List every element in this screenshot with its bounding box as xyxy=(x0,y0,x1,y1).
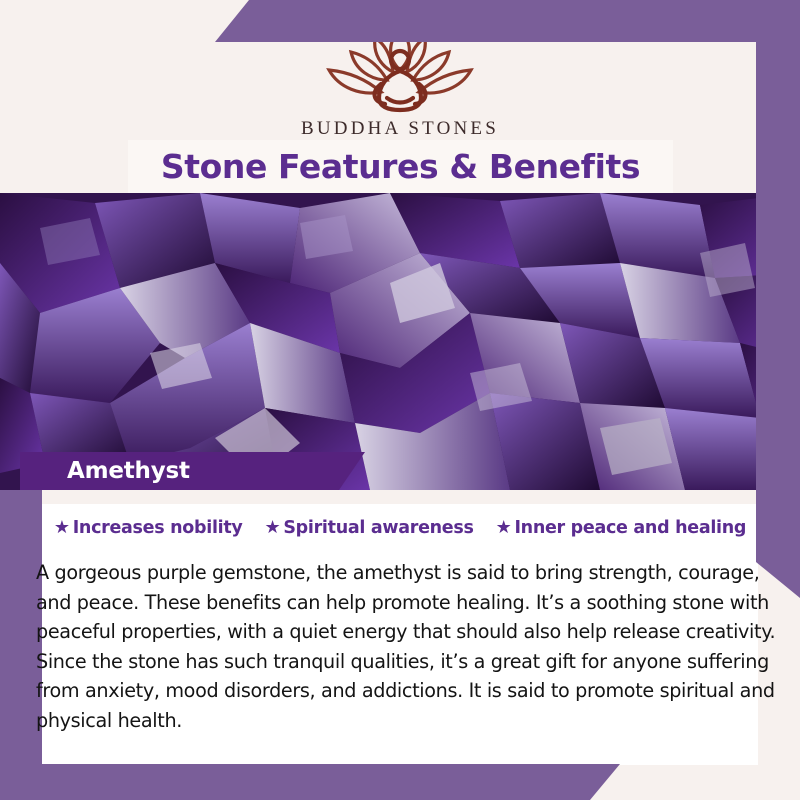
stone-name-banner: Amethyst xyxy=(20,452,365,490)
benefit-label-2: Spiritual awareness xyxy=(283,518,473,538)
brand-name: BUDDHA STONES xyxy=(301,118,499,140)
star-icon: ★ xyxy=(54,519,70,537)
title-strip: Stone Features & Benefits xyxy=(128,140,673,193)
benefit-item-3: ★ Inner peace and healing xyxy=(496,518,747,538)
page-title: Stone Features & Benefits xyxy=(161,147,640,186)
stone-name: Amethyst xyxy=(67,458,190,484)
benefit-item-1: ★ Increases nobility xyxy=(54,518,243,538)
star-icon: ★ xyxy=(496,519,512,537)
frame-band-bottom xyxy=(0,764,620,800)
description-text: A gorgeous purple gemstone, the amethyst… xyxy=(36,558,776,735)
amethyst-photo xyxy=(0,193,800,490)
panel-top-accent xyxy=(42,490,758,504)
star-icon: ★ xyxy=(265,519,281,537)
frame-band-right xyxy=(756,0,800,598)
benefit-label-1: Increases nobility xyxy=(73,518,243,538)
stone-info-poster: BUDDHA STONES Stone Features & Benefits … xyxy=(0,0,800,800)
frame-band-top xyxy=(215,0,800,42)
benefit-label-3: Inner peace and healing xyxy=(514,518,746,538)
benefits-list: ★ Increases nobility ★ Spiritual awarene… xyxy=(42,518,758,538)
benefit-item-2: ★ Spiritual awareness xyxy=(265,518,474,538)
